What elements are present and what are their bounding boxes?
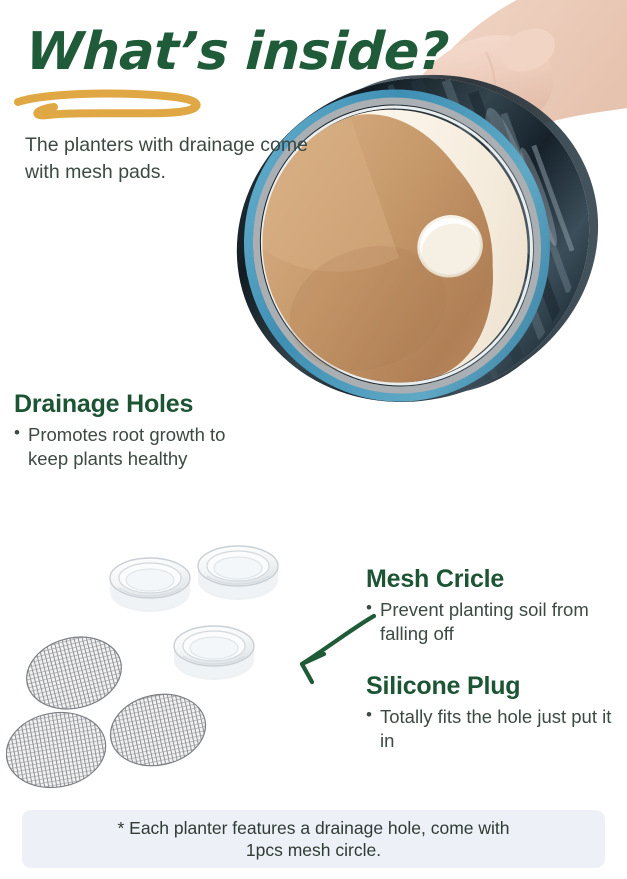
list-item: Prevent planting soil from falling off [366, 598, 616, 647]
footer-note-line1: * Each planter features a drainage hole,… [117, 818, 509, 838]
footer-note-text: * Each planter features a drainage hole,… [117, 817, 509, 862]
infographic-page: What’s inside? The planters with drainag… [0, 0, 627, 879]
list-item: Totally fits the hole just put it in [366, 705, 621, 754]
footer-note-line2: 1pcs mesh circle. [246, 840, 381, 860]
title-block: What’s inside? [26, 26, 366, 126]
pointer-arrow-icon [252, 608, 377, 693]
footer-note-panel: * Each planter features a drainage hole,… [22, 810, 605, 868]
list-item: Promotes root growth to keep plants heal… [14, 423, 254, 472]
feature-mesh-circle: Mesh Cricle Prevent planting soil from f… [366, 565, 616, 647]
feature-drainage-holes: Drainage Holes Promotes root growth to k… [14, 390, 254, 472]
feature-bullets-plug: Totally fits the hole just put it in [366, 705, 621, 754]
feature-heading-mesh: Mesh Cricle [366, 565, 616, 594]
underline-swoosh [14, 88, 214, 122]
feature-heading-drainage: Drainage Holes [14, 390, 254, 419]
feature-heading-plug: Silicone Plug [366, 672, 621, 701]
feature-bullets-drainage: Promotes root growth to keep plants heal… [14, 423, 254, 472]
feature-silicone-plug: Silicone Plug Totally fits the hole just… [366, 672, 621, 754]
feature-bullets-mesh: Prevent planting soil from falling off [366, 598, 616, 647]
intro-text: The planters with drainage come with mes… [25, 132, 325, 186]
page-title: What’s inside? [25, 26, 368, 78]
